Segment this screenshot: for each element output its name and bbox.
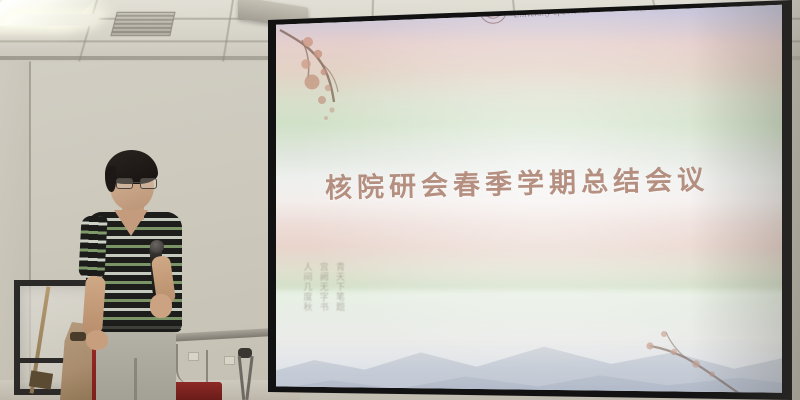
presenter: [78, 148, 196, 400]
tripod: [226, 352, 266, 400]
classroom-presentation-photo: 中国科学技术大学 University of Science and Techn…: [0, 0, 800, 400]
plum-blossom-branch-icon: [278, 26, 398, 146]
poem-column: 青天下笔题: [333, 262, 344, 354]
eyeglasses-icon: [116, 178, 158, 189]
presenter-right-hand: [150, 294, 172, 318]
presenter-sleeve: [78, 215, 107, 278]
presenter-left-arm: [82, 275, 106, 334]
poem-column: 宫阙无字书: [317, 262, 328, 354]
fluorescent-ceiling-light-secondary: [0, 14, 104, 26]
microphone-head: [150, 240, 164, 253]
ceiling-air-vent: [110, 12, 175, 36]
presenter-left-hand: [86, 330, 108, 350]
wall-shadow: [690, 0, 800, 400]
poem-column: 人间几度秋: [300, 262, 311, 354]
vertical-calligraphy-poem: 青天下笔题 宫阙无字书 人间几度秋: [284, 262, 344, 354]
broom-head: [29, 370, 53, 389]
